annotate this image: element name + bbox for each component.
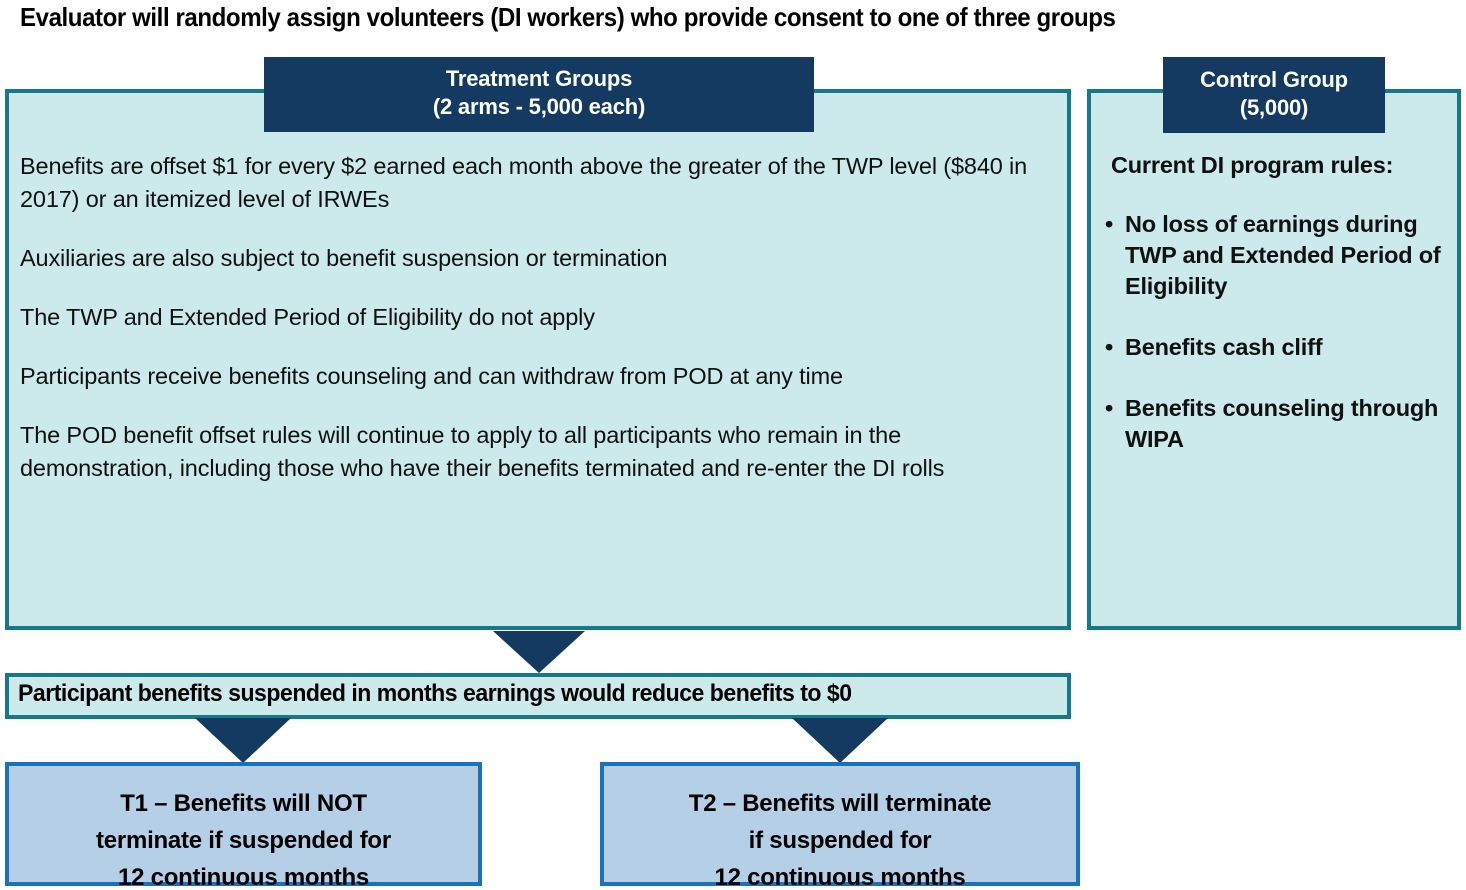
bullet-icon: • xyxy=(1105,332,1113,363)
outcome-t1-line-2: terminate if suspended for xyxy=(9,822,478,859)
treatment-paragraph-1: Benefits are offset $1 for every $2 earn… xyxy=(20,150,1060,216)
treatment-paragraph-2: Auxiliaries are also subject to benefit … xyxy=(20,242,1060,275)
outcome-t2-line-1: T2 – Benefits will terminate xyxy=(604,785,1076,822)
outcome-t2-line-3: 12 continuous months xyxy=(604,859,1076,890)
list-item: • No loss of earnings during TWP and Ext… xyxy=(1103,209,1451,302)
treatment-paragraph-5: The POD benefit offset rules will contin… xyxy=(20,419,1060,485)
down-arrow-icon-to-t2 xyxy=(792,718,888,763)
treatment-paragraph-3: The TWP and Extended Period of Eligibili… xyxy=(20,301,1060,334)
list-item-label: Benefits cash cliff xyxy=(1125,334,1322,360)
control-group-body: Current DI program rules: • No loss of e… xyxy=(1103,150,1451,455)
outcome-box-t2: T2 – Benefits will terminate if suspende… xyxy=(600,762,1080,886)
outcome-box-t1: T1 – Benefits will NOT terminate if susp… xyxy=(5,762,482,886)
down-arrow-icon-to-t1 xyxy=(195,718,291,763)
bullet-icon: • xyxy=(1105,209,1113,240)
control-group-intro: Current DI program rules: xyxy=(1103,150,1451,181)
page-title: Evaluator will randomly assign volunteer… xyxy=(20,2,1352,32)
outcome-t1-line-3: 12 continuous months xyxy=(9,859,478,890)
treatment-header-line-1: Treatment Groups xyxy=(264,65,814,93)
list-item: • Benefits counseling through WIPA xyxy=(1103,393,1451,455)
outcome-t1-line-1: T1 – Benefits will NOT xyxy=(9,785,478,822)
bullet-icon: • xyxy=(1105,393,1113,424)
down-arrow-icon-to-suspension xyxy=(493,631,585,673)
list-item: • Benefits cash cliff xyxy=(1103,332,1451,363)
suspension-bar-label: Participant benefits suspended in months… xyxy=(18,680,1021,708)
control-group-header: Control Group (5,000) xyxy=(1163,57,1385,133)
outcome-t2-line-2: if suspended for xyxy=(604,822,1076,859)
list-item-label: No loss of earnings during TWP and Exten… xyxy=(1125,211,1441,299)
treatment-groups-body: Benefits are offset $1 for every $2 earn… xyxy=(20,150,1060,485)
control-group-bullet-list: • No loss of earnings during TWP and Ext… xyxy=(1103,209,1451,455)
control-header-line-1: Control Group xyxy=(1163,66,1385,94)
treatment-header-line-2: (2 arms - 5,000 each) xyxy=(264,93,814,121)
flowchart-canvas: Evaluator will randomly assign volunteer… xyxy=(0,0,1466,890)
treatment-groups-header: Treatment Groups (2 arms - 5,000 each) xyxy=(264,57,814,132)
treatment-paragraph-4: Participants receive benefits counseling… xyxy=(20,360,1060,393)
control-header-line-2: (5,000) xyxy=(1163,94,1385,122)
list-item-label: Benefits counseling through WIPA xyxy=(1125,395,1438,452)
